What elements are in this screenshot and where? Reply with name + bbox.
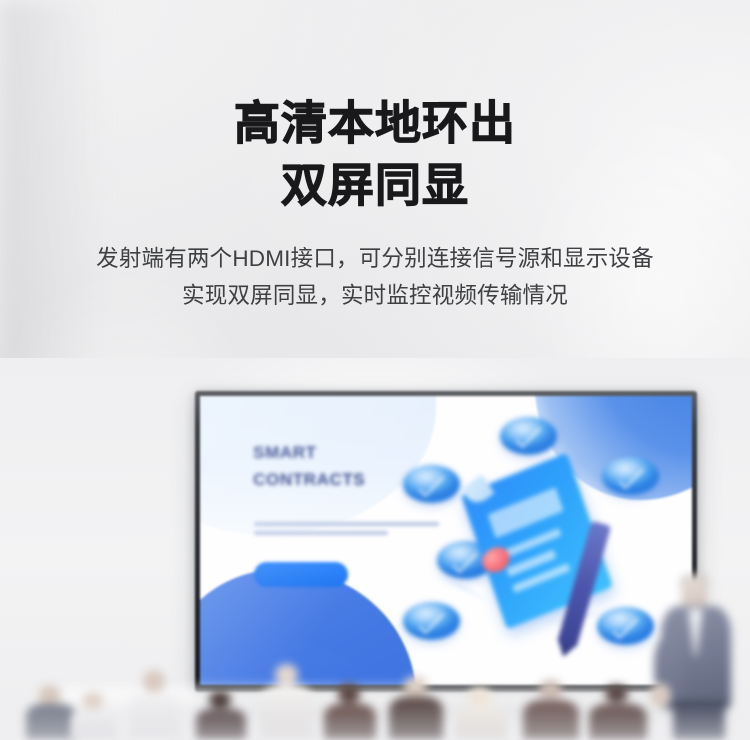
document-fold — [461, 475, 494, 509]
person-body — [324, 704, 376, 740]
person-body — [129, 692, 180, 740]
page-title: 高清本地环出 双屏同显 — [0, 92, 750, 216]
checkmark-node-icon — [597, 607, 654, 645]
person-head — [338, 684, 360, 703]
headline-line-1: 高清本地环出 — [0, 92, 750, 154]
slide-canvas: SMART CONTRACTS — [200, 396, 692, 685]
checkmark-node-icon — [403, 602, 460, 640]
person-head — [275, 664, 299, 686]
page-subtitle: 发射端有两个HDMI接口，可分别连接信号源和显示设备 实现双屏同显，实时监控视频… — [0, 240, 750, 314]
person-body — [523, 700, 579, 740]
person-head — [143, 670, 165, 692]
audience-person — [126, 668, 184, 740]
slide-title: SMART CONTRACTS — [253, 439, 365, 493]
audience-person — [322, 682, 378, 740]
person-body — [196, 709, 246, 740]
checkmark-node-icon — [500, 417, 557, 455]
conference-room-photo: SMART CONTRACTS — [0, 358, 750, 740]
person-body — [71, 710, 117, 740]
person-body — [589, 704, 647, 740]
person-head — [209, 691, 231, 709]
presenter-hand — [650, 683, 671, 708]
person-body — [260, 685, 315, 740]
slide-body-line — [254, 531, 388, 535]
audience-person — [586, 682, 650, 740]
smart-contract-network-illustration — [397, 419, 682, 673]
person-head — [605, 685, 628, 702]
wall-mounted-television: SMART CONTRACTS — [195, 391, 697, 692]
person-head — [539, 680, 563, 699]
person-head — [404, 676, 427, 696]
slide-cta-button — [254, 562, 347, 587]
audience-person — [256, 662, 318, 740]
presenter-legs — [673, 700, 725, 740]
subtitle-line-1: 发射端有两个HDMI接口，可分别连接信号源和显示设备 — [0, 240, 750, 277]
subtitle-line-2: 实现双屏同显，实时监控视频传输情况 — [0, 277, 750, 314]
person-body — [455, 705, 507, 740]
slide-title-line-1: SMART — [253, 439, 365, 466]
television-screen: SMART CONTRACTS — [200, 396, 692, 685]
audience-person — [386, 674, 446, 740]
headline-line-2: 双屏同显 — [0, 154, 750, 216]
audience-person — [520, 678, 582, 740]
product-feature-poster: 高清本地环出 双屏同显 发射端有两个HDMI接口，可分别连接信号源和显示设备 实… — [0, 0, 750, 740]
audience-group — [0, 648, 750, 740]
checkmark-node-icon — [403, 465, 460, 503]
audience-person — [452, 684, 510, 740]
person-body — [389, 696, 443, 740]
audience-person — [68, 690, 120, 740]
person-head — [468, 687, 491, 705]
standing-presenter — [648, 572, 744, 740]
person-head — [83, 692, 104, 710]
checkmark-node-icon — [602, 457, 659, 495]
slide-title-line-2: CONTRACTS — [253, 466, 365, 493]
person-head — [38, 685, 61, 705]
audience-person — [194, 688, 248, 740]
